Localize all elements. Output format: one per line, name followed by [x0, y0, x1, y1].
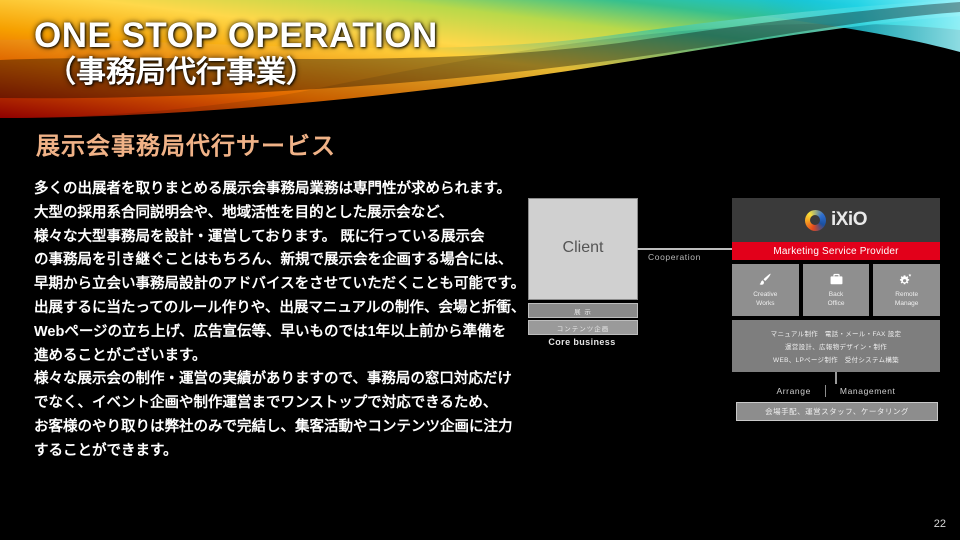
core-bar-exhibition: 展 示: [528, 303, 638, 318]
page-number: 22: [934, 518, 946, 530]
card-label-line1: Creative: [753, 291, 777, 299]
body-line: でなく、イベント企画や制作運営までワンストップで対応できるため、: [34, 392, 524, 416]
detail-line: マニュアル制作 電話・メール・FAX 設定: [771, 328, 902, 338]
provider-panel: iXiO Marketing Service Provider Creative…: [732, 198, 940, 440]
body-copy: 多くの出展者を取りまとめる展示会事務局業務は専門性が求められます。 大型の採用系…: [34, 178, 524, 464]
detail-line: WEB、LPページ制作 受付システム構築: [773, 354, 899, 364]
ixio-swirl-icon: [805, 210, 826, 231]
body-line: 進めることがございます。: [34, 345, 524, 369]
venue-services-bar: 会場手配、運営スタッフ、ケータリング: [736, 402, 938, 421]
card-back-office: Back Office: [803, 264, 870, 316]
header-banner: ONE STOP OPERATION （事務局代行事業）: [0, 0, 960, 118]
arrange-label: Arrange: [762, 386, 824, 396]
body-line: Webページの立ち上げ、広告宣伝等、早いものでは1年以上前から準備を: [34, 321, 524, 345]
management-label: Management: [826, 386, 910, 396]
service-detail-panel: マニュアル制作 電話・メール・FAX 設定 運営設計、広報物デザイン・制作 WE…: [732, 320, 940, 372]
core-bar-label: 展 示: [574, 306, 592, 316]
page-subtitle: （事務局代行事業）: [46, 57, 438, 89]
body-line: お客様のやり取りは弊社のみで完結し、集客活動やコンテンツ企画に注力: [34, 416, 524, 440]
title-block: ONE STOP OPERATION （事務局代行事業）: [34, 18, 438, 89]
body-line: 大型の採用系合同説明会や、地域活性を目的とした展示会など、: [34, 202, 524, 226]
card-label-line1: Remote: [895, 291, 918, 299]
service-diagram: Client 展 示 コンテンツ企画 Core business Coopera…: [520, 190, 950, 450]
card-creative-works: Creative Works: [732, 264, 799, 316]
card-remote-manage: Remote Manage: [873, 264, 940, 316]
body-line: の事務局を引き継ぐことはもちろん、新規で展示会を企画する場合には、: [34, 249, 524, 273]
service-cards: Creative Works Back Office: [732, 264, 940, 316]
core-business-caption: Core business: [528, 337, 636, 347]
detail-line: 運営設計、広報物デザイン・制作: [785, 341, 887, 351]
ixio-logo-text: iXiO: [831, 209, 867, 231]
briefcase-icon: [828, 272, 845, 290]
ixio-logo-area: iXiO: [732, 198, 940, 242]
page-title: ONE STOP OPERATION: [34, 18, 438, 53]
card-label-line2: Office: [828, 300, 845, 308]
card-label-line1: Back: [829, 291, 843, 299]
cooperation-label: Cooperation: [648, 252, 701, 262]
body-line: 出展するに当たってのルール作りや、出展マニュアルの制作、会場と折衝、: [34, 297, 524, 321]
section-heading: 展示会事務局代行サービス: [36, 126, 336, 161]
venue-services-label: 会場手配、運営スタッフ、ケータリング: [765, 406, 909, 417]
body-line: 様々な大型事務局を設計・運営しております。 既に行っている展示会: [34, 226, 524, 250]
marketing-service-provider-bar: Marketing Service Provider: [732, 242, 940, 260]
card-label-line2: Manage: [895, 300, 919, 308]
client-label: Client: [529, 239, 637, 257]
paintbrush-icon: [757, 272, 774, 290]
panel-stem-connector: [835, 372, 837, 384]
body-line: することができます。: [34, 440, 524, 464]
core-bar-contents-planning: コンテンツ企画: [528, 320, 638, 335]
body-line: 早期から立会い事務局設計のアドバイスをさせていただくことも可能です。: [34, 273, 524, 297]
msp-label: Marketing Service Provider: [773, 246, 898, 257]
core-bar-label: コンテンツ企画: [557, 323, 610, 333]
card-label-line2: Works: [756, 300, 774, 308]
arrange-management-row: Arrange Management: [732, 384, 940, 398]
body-line: 様々な展示会の制作・運営の実績がありますので、事務局の窓口対応だけ: [34, 368, 524, 392]
gears-icon: [898, 272, 915, 290]
body-line: 多くの出展者を取りまとめる展示会事務局業務は専門性が求められます。: [34, 178, 524, 202]
client-box: Client: [528, 198, 638, 300]
